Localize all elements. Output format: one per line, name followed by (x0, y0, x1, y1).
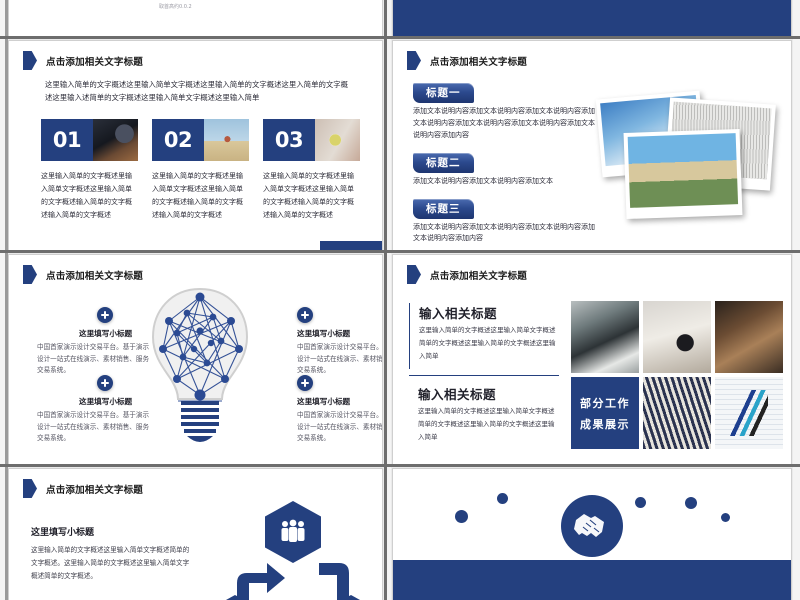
plus-circle-icon (97, 375, 113, 391)
slide1-number-card: 03 (263, 119, 360, 161)
glasses-on-book-photo (643, 301, 711, 373)
slide1-number: 02 (152, 119, 204, 161)
plus-circle-icon (97, 307, 113, 323)
beach-lifeguard-photo (204, 119, 249, 161)
slides-contact-sheet: 取首高约0.0.2 点击添加相关文字标题 这里输入简单的文字概述这里输入简单文字… (0, 0, 800, 600)
hexagon-document[interactable] (207, 595, 263, 600)
slide1-column-body: 这里输入简单的文字概述里输入简单文字概述这里输入简单的文字概述输入简单的文字概述… (41, 170, 138, 222)
slide1-column[interactable]: 01 这里输入简单的文字概述里输入简单文字概述这里输入简单的文字概述输入简单的文… (41, 119, 138, 222)
hexagon-people[interactable] (265, 501, 321, 563)
slide3-item[interactable]: 这里填写小标题 中国首家演示设计交易平台。基于演示设计一站式在线演示、素材销售、… (37, 307, 155, 377)
slide4-block-body: 这里输入简单的文字概述这里输入简单文字概述简单的文字概述这里输入简单的文字概述这… (419, 324, 557, 363)
tablet-photo (93, 119, 138, 161)
decorative-dot (455, 510, 468, 523)
slide4-block-title: 输入相关标题 (418, 384, 557, 403)
slide2-sections: 标题一 添加文本说明内容添加文本说明内容添加文本说明内容添加文本说明内容添加文本… (413, 81, 598, 251)
network-lightbulb-icon (147, 283, 253, 453)
slide5-body: 这里输入简单的文字概述这里输入简单文字概述简单的文字概述。这里输入简单的文字概述… (31, 544, 191, 584)
slide3-header: 点击添加相关文字标题 (9, 265, 143, 284)
slide1-column[interactable]: 03 这里输入简单的文字概述里输入简单文字概述这里输入简单的文字概述输入简单的文… (263, 119, 360, 222)
decorative-dot (635, 497, 646, 508)
arrow-marker-icon (23, 51, 37, 70)
arrow-marker-icon (23, 265, 37, 284)
slide4-block[interactable]: 输入相关标题 这里输入简单的文字概述这里输入简单文字概述简单的文字概述这里输入简… (409, 303, 557, 369)
slide3-item-title: 这里填写小标题 (297, 396, 383, 407)
slide1-lead-paragraph: 这里输入简单的文字概述这里输入简单文字概述这里输入简单的文字概述这里入简单的文字… (45, 79, 355, 105)
arrow-marker-icon (407, 51, 421, 70)
slide-thumbnail-4[interactable]: 点击添加相关文字标题 输入相关标题 这里输入简单的文字概述这里输入简单文字概述简… (392, 254, 792, 465)
hexagon-chat[interactable] (323, 595, 379, 600)
slide4-text-blocks: 输入相关标题 这里输入简单的文字概述这里输入简单文字概述简单的文字概述这里输入简… (409, 303, 557, 444)
slide5-title: 这里填写小标题 (31, 525, 191, 538)
books-spiral-photo (643, 377, 711, 449)
arrow-marker-icon (23, 479, 37, 498)
slide1-number-card: 01 (41, 119, 138, 161)
slide-thumbnail-3[interactable]: 点击添加相关文字标题 这里填写小标题 中国首家演示设计交易平台。基于演示设计一站… (8, 254, 383, 465)
row-separator (0, 36, 800, 39)
people-group-icon (278, 519, 308, 545)
slide3-item-title: 这里填写小标题 (37, 328, 155, 339)
label-line-1: 部分工作 (580, 395, 630, 411)
plus-circle-icon (297, 307, 313, 323)
slide2-badge: 标题一 (413, 83, 474, 103)
handshake-icon (572, 509, 612, 543)
slide2-paragraph: 添加文本说明内容添加文本说明内容添加文本说明内容添加文本说明内容添加文本说明内容… (413, 106, 598, 142)
slide-thumbnail-2[interactable]: 点击添加相关文字标题 标题一 添加文本说明内容添加文本说明内容添加文本说明内容添… (392, 40, 792, 251)
slide1-number-card: 02 (152, 119, 249, 161)
slide2-badge: 标题三 (413, 199, 474, 219)
slide4-header-title: 点击添加相关文字标题 (430, 268, 527, 282)
decorative-dot (721, 513, 730, 522)
slide-thumbnail-6[interactable]: 演讲完毕，谢谢您的观看 (392, 468, 792, 600)
slide5-cycle-diagram: 关键词 (199, 499, 383, 600)
cup-in-hand-photo (315, 119, 360, 161)
slide4-block-title: 输入相关标题 (419, 303, 557, 322)
slide2-header: 点击添加相关文字标题 (393, 51, 527, 70)
decorative-dot (497, 493, 508, 504)
thank-you-slide: 演讲完毕，谢谢您的观看 (393, 469, 791, 600)
slide1-columns: 01 这里输入简单的文字概述里输入简单文字概述这里输入简单的文字概述输入简单的文… (41, 119, 361, 222)
slide2-header-title: 点击添加相关文字标题 (430, 54, 527, 68)
slide4-header: 点击添加相关文字标题 (393, 265, 527, 284)
bottom-band (393, 560, 791, 600)
divider (409, 375, 559, 376)
cut-fragment-text: 取首高约0.0.2 (159, 3, 192, 10)
slide3-item[interactable]: 这里填写小标题 中国首家演示设计交易平台。基于演示设计一站式在线演示、素材销售、… (37, 375, 155, 445)
slide-thumbnail-1[interactable]: 点击添加相关文字标题 这里输入简单的文字概述这里输入简单文字概述这里输入简单的文… (8, 40, 383, 251)
slide2-badge: 标题二 (413, 153, 474, 173)
slide1-number: 01 (41, 119, 93, 161)
slide4-block-body: 这里输入简单的文字概述这里输入简单文字概述简单的文字概述这里输入简单的文字概述这… (418, 405, 557, 444)
slide1-header-title: 点击添加相关文字标题 (46, 54, 143, 68)
slide3-item[interactable]: 这里填写小标题 中国首家演示设计交易平台。基于演示设计一站式在线演示、素材销售、… (297, 375, 383, 445)
slide3-item-title: 这里填写小标题 (297, 328, 383, 339)
row-separator (0, 464, 800, 467)
row-separator (0, 250, 800, 253)
slide5-header: 点击添加相关文字标题 (9, 479, 143, 498)
slide3-header-title: 点击添加相关文字标题 (46, 268, 143, 282)
slide3-item-body: 中国首家演示设计交易平台。基于演示设计一站式在线演示、素材销售、服务交易系统。 (37, 342, 155, 377)
slide3-item-body: 中国首家演示设计交易平台。基于演示设计一站式在线演示、素材销售、服务交易系统。 (297, 410, 383, 445)
slide1-number: 03 (263, 119, 315, 161)
handshake-badge (561, 495, 623, 557)
decorative-dot (685, 497, 697, 509)
slide1-column-body: 这里输入简单的文字概述里输入简单文字概述这里输入简单的文字概述输入简单的文字概述… (263, 170, 360, 222)
slide4-block[interactable]: 输入相关标题 这里输入简单的文字概述这里输入简单文字概述简单的文字概述这里输入简… (409, 384, 557, 444)
sheet-left-edge (5, 0, 8, 600)
label-line-2: 成果展示 (580, 416, 630, 432)
slide1-column[interactable]: 02 这里输入简单的文字概述里输入简单文字概述这里输入简单的文字概述输入简单的文… (152, 119, 249, 222)
slide4-gallery: 部分工作 成果展示 (571, 301, 783, 449)
notebooks-photo (571, 301, 639, 373)
notebook-pens-photo (715, 377, 783, 449)
slide1-corner-tab (320, 241, 382, 250)
slide2-photo-stack (593, 79, 783, 229)
office-desk-photo (715, 301, 783, 373)
column-separator (384, 0, 387, 600)
slide3-item-body: 中国首家演示设计交易平台。基于演示设计一站式在线演示、素材销售、服务交易系统。 (297, 342, 383, 377)
slide-thumbnail-cut-left[interactable]: 取首高约0.0.2 (8, 0, 383, 37)
plus-circle-icon (297, 375, 313, 391)
slide1-column-body: 这里输入简单的文字概述里输入简单文字概述这里输入简单的文字概述输入简单的文字概述… (152, 170, 249, 222)
slide2-paragraph: 添加文本说明内容添加文本说明内容添加文本 (413, 176, 598, 188)
arrow-marker-icon (407, 265, 421, 284)
slide-thumbnail-5[interactable]: 点击添加相关文字标题 这里填写小标题 这里输入简单的文字概述这里输入简单文字概述… (8, 468, 383, 600)
slide-thumbnail-cut-right[interactable] (392, 0, 792, 37)
slide3-item-title: 这里填写小标题 (37, 396, 155, 407)
slide3-item[interactable]: 这里填写小标题 中国首家演示设计交易平台。基于演示设计一站式在线演示、素材销售、… (297, 307, 383, 377)
label-tile: 部分工作 成果展示 (571, 377, 639, 449)
slide5-header-title: 点击添加相关文字标题 (46, 482, 143, 496)
slide3-item-body: 中国首家演示设计交易平台。基于演示设计一站式在线演示、素材销售、服务交易系统。 (37, 410, 155, 445)
slide2-paragraph: 添加文本说明内容添加文本说明内容添加文本说明内容添加文本说明内容添加内容 (413, 222, 598, 246)
slide1-header: 点击添加相关文字标题 (9, 51, 143, 70)
campus-building-photo (624, 129, 743, 219)
slide5-text: 这里填写小标题 这里输入简单的文字概述这里输入简单文字概述简单的文字概述。这里输… (31, 525, 191, 584)
